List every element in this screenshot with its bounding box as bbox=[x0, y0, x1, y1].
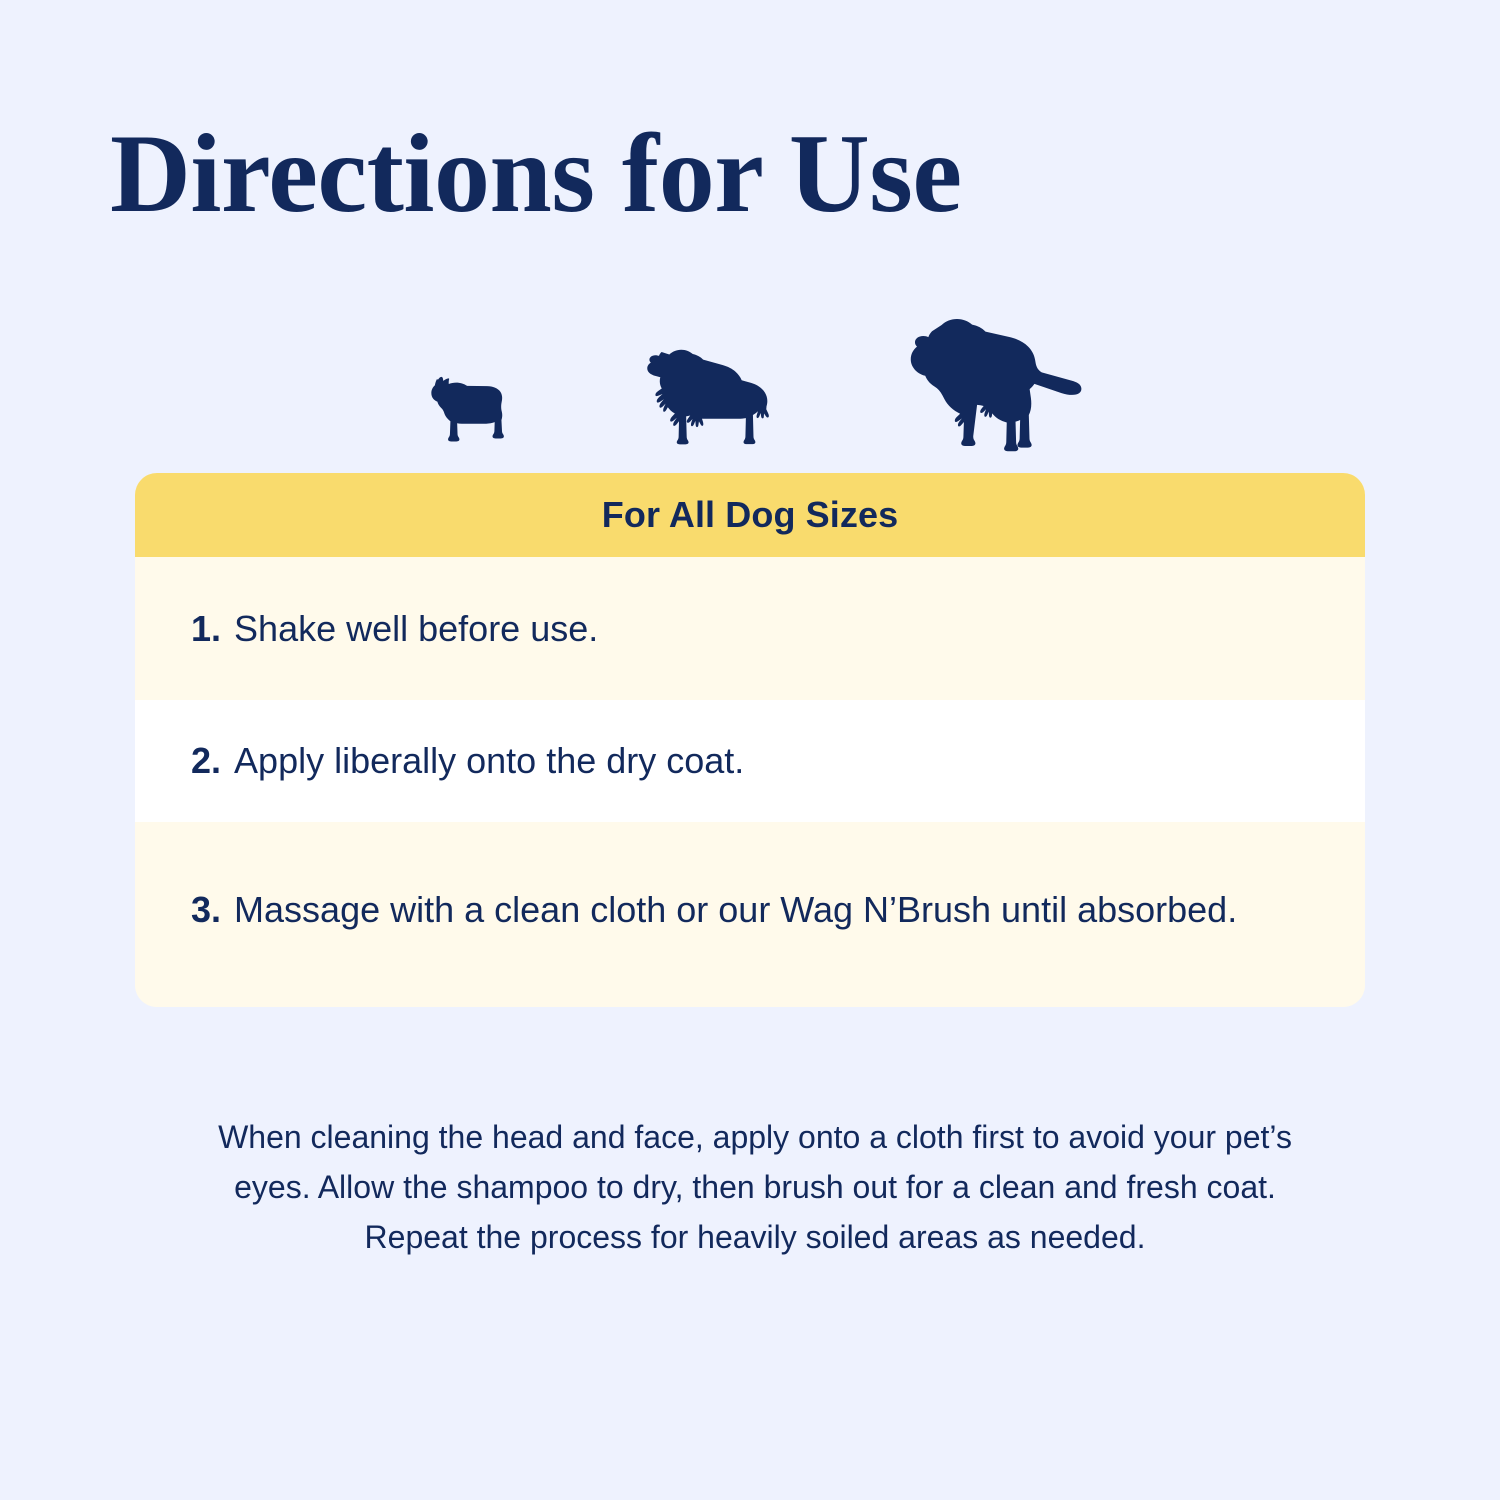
card-header: For All Dog Sizes bbox=[135, 473, 1365, 557]
step-text-2: Apply liberally onto the dry coat. bbox=[234, 735, 1309, 786]
directions-card: For All Dog Sizes 1. Shake well before u… bbox=[135, 473, 1365, 1007]
card-header-title: For All Dog Sizes bbox=[602, 494, 898, 536]
step-row-1: 1. Shake well before use. bbox=[135, 557, 1365, 700]
step-number-3: 3. bbox=[191, 884, 221, 935]
step-number-1: 1. bbox=[191, 603, 221, 654]
directions-for-use-page: Directions for Use For All Dog Sizes 1. … bbox=[0, 0, 1500, 1500]
step-number-2: 2. bbox=[191, 735, 221, 786]
step-row-3: 3. Massage with a clean cloth or our Wag… bbox=[135, 822, 1365, 1007]
large-dog-silhouette bbox=[894, 319, 1090, 455]
step-text-1: Shake well before use. bbox=[234, 603, 1309, 654]
medium-dog-silhouette bbox=[630, 346, 782, 455]
step-row-2: 2. Apply liberally onto the dry coat. bbox=[135, 700, 1365, 822]
dog-size-illustrations bbox=[0, 300, 1500, 455]
small-dog-silhouette bbox=[410, 369, 518, 455]
step-text-3: Massage with a clean cloth or our Wag N’… bbox=[234, 884, 1309, 935]
usage-note: When cleaning the head and face, apply o… bbox=[210, 1113, 1300, 1263]
page-title: Directions for Use bbox=[110, 118, 962, 230]
